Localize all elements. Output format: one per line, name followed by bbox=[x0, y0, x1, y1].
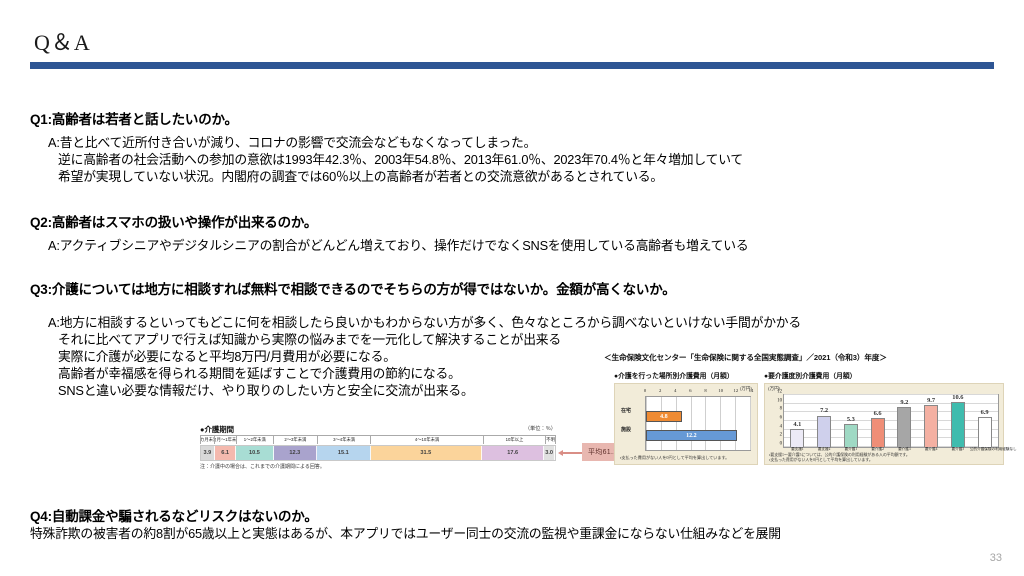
gridline bbox=[784, 394, 998, 395]
care-period-category: 1〜2年未満 bbox=[236, 435, 273, 444]
chart-care-period: ●介護期間 （単位：％） 6カ月未満6カ月〜1年未満1〜2年未満2〜3年未満3〜… bbox=[200, 424, 598, 476]
bar-column: 6.6 bbox=[871, 395, 885, 447]
bar-value-label: 6.9 bbox=[981, 410, 989, 416]
chart-care-period-bar: 3.96.110.512.315.131.517.63.0 bbox=[200, 445, 556, 461]
y-axis-tick-label: 6 bbox=[780, 416, 782, 421]
page-number: 33 bbox=[990, 552, 1002, 564]
vertical-bar bbox=[924, 405, 938, 447]
gridline bbox=[661, 397, 662, 450]
x-axis-tick-label: 4 bbox=[674, 388, 676, 393]
y-axis-tick-label: 8 bbox=[780, 407, 782, 412]
chart-cost-by-care-level-plot: 0246810124.1要支援17.2要支援25.3要介護16.6要介護29.2… bbox=[783, 394, 999, 448]
bar-column: 9.7 bbox=[924, 395, 938, 447]
bar-value-label: 7.2 bbox=[820, 408, 828, 414]
chart-cost-by-care-level-note: ・支払った費用がない人を0円として平均を算出しています。 bbox=[769, 457, 873, 463]
x-axis-tick-label: 0 bbox=[644, 388, 646, 393]
chart-cost-by-place-note: ・支払った費用がない人を0円として平均を算出しています。 bbox=[620, 455, 729, 461]
horizontal-bar: 12.2 bbox=[646, 430, 737, 441]
y-axis-tick-label: 2 bbox=[780, 433, 782, 438]
vertical-bar bbox=[871, 418, 885, 447]
gridline bbox=[676, 397, 677, 450]
chart-care-period-title: ●介護期間 bbox=[200, 424, 234, 435]
bar-value-label: 5.3 bbox=[847, 417, 855, 423]
page-title: Q＆A bbox=[34, 25, 91, 57]
care-period-category: 2〜3年未満 bbox=[273, 435, 317, 444]
bar-row-label: 施設 bbox=[621, 426, 631, 433]
care-period-segment: 3.0 bbox=[544, 446, 555, 460]
care-period-segment: 12.3 bbox=[274, 446, 318, 460]
x-axis-tick-label: 12 bbox=[734, 388, 739, 393]
question-2: Q2:高齢者はスマホの扱いや操作が出来るのか。 bbox=[30, 211, 317, 231]
care-period-category: 6カ月〜1年未満 bbox=[214, 435, 236, 444]
gridline bbox=[646, 397, 647, 450]
vertical-bar bbox=[978, 417, 992, 447]
care-period-segment: 15.1 bbox=[317, 446, 370, 460]
gridline bbox=[784, 403, 998, 404]
y-axis-tick-label: 0 bbox=[780, 442, 782, 447]
bar-value-label: 4.1 bbox=[793, 422, 801, 428]
chart-cost-by-place: (万円) 4.812.2 02468101214在宅施設・支払った費用がない人を… bbox=[614, 383, 758, 465]
chart-level-heading: ●要介護度別介護費用（月額） bbox=[764, 370, 856, 380]
bar-column: 10.6 bbox=[951, 395, 965, 447]
source-block: ＜生命保険文化センター「生命保険に関する全国実態調査」／2021（令和3）年度＞… bbox=[604, 352, 1006, 380]
gridline bbox=[784, 411, 998, 412]
chart-cost-by-care-level: (万円) 0246810124.1要支援17.2要支援25.3要介護16.6要介… bbox=[764, 383, 1004, 465]
gridline bbox=[720, 397, 721, 450]
question-1: Q1:高齢者は若者と話したいのか。 bbox=[30, 108, 238, 128]
bar-column: 7.2 bbox=[817, 395, 831, 447]
answer-1-line-3: 希望が実現していない状況。内閣府の調査では60％以上の高齢者が若者との交流意欲が… bbox=[58, 166, 663, 185]
care-period-category: 10年以上 bbox=[483, 435, 546, 444]
bar-value-label: 10.6 bbox=[952, 395, 963, 401]
vertical-bar bbox=[790, 429, 804, 447]
care-period-segment: 17.6 bbox=[482, 446, 544, 460]
bar-column: 4.1 bbox=[790, 395, 804, 447]
bar-value-label: 9.7 bbox=[927, 398, 935, 404]
gridline bbox=[784, 429, 998, 430]
care-period-category: 6カ月未満 bbox=[200, 435, 214, 444]
care-period-segment: 31.5 bbox=[371, 446, 483, 460]
x-axis-tick-label: 8 bbox=[704, 388, 706, 393]
chart-care-period-category-row: 6カ月未満6カ月〜1年未満1〜2年未満2〜3年未満3〜4年未満4〜10年未満10… bbox=[200, 435, 556, 444]
care-period-segment: 10.5 bbox=[236, 446, 273, 460]
bar-value-label: 6.6 bbox=[874, 411, 882, 417]
vertical-bar bbox=[844, 424, 858, 447]
care-period-category: 3〜4年未満 bbox=[317, 435, 371, 444]
x-axis-category-label: 要介護4 bbox=[925, 448, 938, 452]
gridline bbox=[750, 397, 751, 450]
slide-root: Q＆A Q1:高齢者は若者と話したいのか。 A:昔と比べて近所付き合いが減り、コ… bbox=[0, 0, 1024, 576]
y-axis-tick-label: 12 bbox=[777, 390, 782, 395]
care-period-segment: 6.1 bbox=[215, 446, 237, 460]
chart-care-period-unit: （単位：％） bbox=[525, 425, 556, 432]
gridline bbox=[691, 397, 692, 450]
gridline bbox=[735, 397, 736, 450]
bar-row-label: 在宅 bbox=[621, 407, 631, 414]
source-citation: ＜生命保険文化センター「生命保険に関する全国実態調査」／2021（令和3）年度＞ bbox=[604, 352, 1006, 363]
care-period-category: 4〜10年未満 bbox=[370, 435, 482, 444]
vertical-bar bbox=[951, 402, 965, 447]
care-period-category: 不明 bbox=[545, 435, 556, 444]
question-3: Q3:介護については地方に相談すれば無料で相談できるのでそちらの方が得ではないか… bbox=[30, 278, 676, 298]
gridline bbox=[784, 446, 998, 447]
gridline bbox=[784, 437, 998, 438]
x-axis-tick-label: 14 bbox=[749, 388, 754, 393]
question-4: Q4:自動課金や騙されるなどリスクはないのか。 bbox=[30, 505, 318, 525]
vertical-bar bbox=[817, 416, 831, 447]
gridline bbox=[784, 420, 998, 421]
vertical-bar bbox=[897, 407, 911, 447]
chart-place-heading: ●介護を行った場所別介護費用（月額） bbox=[614, 370, 734, 380]
chart-headings: ●介護を行った場所別介護費用（月額） ●要介護度別介護費用（月額） bbox=[604, 370, 1006, 380]
x-axis-tick-label: 10 bbox=[718, 388, 723, 393]
x-axis-tick-label: 2 bbox=[659, 388, 661, 393]
x-axis-tick-label: 6 bbox=[689, 388, 691, 393]
chart-care-period-note: 注：介護中の場合は、これまでの介護期間による回答。 bbox=[200, 463, 325, 470]
answer-2-line-1: A:アクティブシニアやデジタルシニアの割合がどんどん増えており、操作だけでなくS… bbox=[48, 235, 748, 254]
x-axis-category-label: 要介護5 bbox=[952, 448, 965, 452]
gridline bbox=[705, 397, 706, 450]
y-axis-tick-label: 4 bbox=[780, 424, 782, 429]
x-axis-category-label: 公的介護保険の利用経験なし bbox=[970, 448, 999, 452]
chart-cost-by-place-plot: 4.812.2 bbox=[645, 396, 751, 451]
bar-column: 9.2 bbox=[897, 395, 911, 447]
answer-4-line-1: 特殊詐欺の被害者の約8割が65歳以上と実態はあるが、本アプリではユーザー同士の交… bbox=[30, 523, 781, 542]
chart-care-period-arrow-icon bbox=[558, 450, 582, 456]
answer-3-line-5: SNSと違い必要な情報だけ、やり取りのしたい方と安全に交流が出来る。 bbox=[58, 380, 474, 399]
title-divider bbox=[30, 62, 994, 69]
horizontal-bar: 4.8 bbox=[646, 411, 682, 422]
y-axis-tick-label: 10 bbox=[777, 398, 782, 403]
bar-column: 6.9 bbox=[978, 395, 992, 447]
bar-value-label: 9.2 bbox=[900, 400, 908, 406]
bar-column: 5.3 bbox=[844, 395, 858, 447]
care-period-segment: 3.9 bbox=[201, 446, 215, 460]
